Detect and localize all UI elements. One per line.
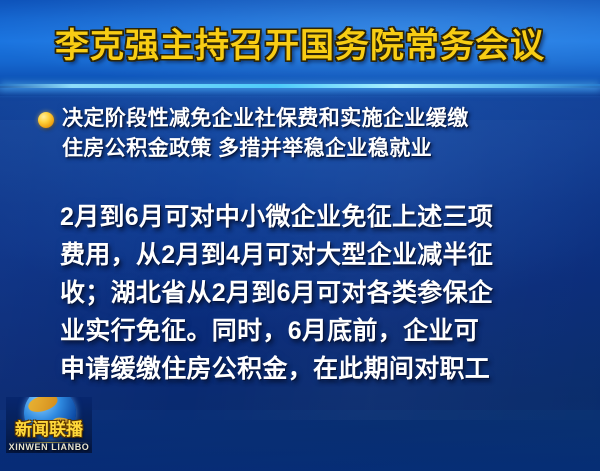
body-line: 申请缓缴住房公积金，在此期间对职工 <box>60 350 560 388</box>
page-title: 李克强主持召开国务院常务会议 <box>0 29 600 63</box>
body-paragraph: 2月到6月可对中小微企业免征上述三项 费用，从2月到4月可对大型企业减半征 收；… <box>60 198 560 388</box>
header-divider-glow <box>0 88 600 98</box>
body-line: 费用，从2月到4月可对大型企业减半征 <box>60 236 560 274</box>
subtitle-line: 住房公积金政策 多措并举稳企业稳就业 <box>62 134 570 164</box>
body-line: 收；湖北省从2月到6月可对各类参保企 <box>60 274 560 312</box>
gold-dot-icon <box>38 112 54 128</box>
subtitle-block: 决定阶段性减免企业社保费和实施企业缓缴 住房公积金政策 多措并举稳企业稳就业 <box>34 104 570 164</box>
body-line: 2月到6月可对中小微企业免征上述三项 <box>60 198 560 236</box>
channel-logo: 新闻联播 XINWEN LIANBO <box>6 397 92 453</box>
body-line: 业实行免征。同时，6月底前，企业可 <box>60 312 560 350</box>
subtitle-lines: 决定阶段性减免企业社保费和实施企业缓缴 住房公积金政策 多措并举稳企业稳就业 <box>62 104 570 164</box>
channel-name-pinyin: XINWEN LIANBO <box>6 442 92 452</box>
broadcast-screen: 李克强主持召开国务院常务会议 决定阶段性减免企业社保费和实施企业缓缴 住房公积金… <box>0 0 600 471</box>
subtitle-line: 决定阶段性减免企业社保费和实施企业缓缴 <box>62 104 570 134</box>
channel-name-cn: 新闻联播 <box>6 415 92 440</box>
